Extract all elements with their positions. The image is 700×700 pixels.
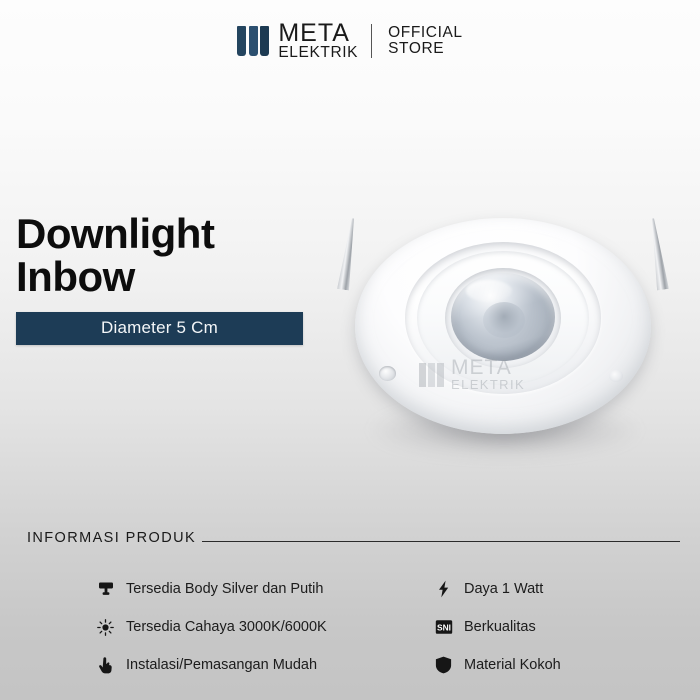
brand-logo: META ELEKTRIK OFFICIAL STORE	[237, 22, 462, 60]
meta-bars-logo-icon	[237, 26, 269, 56]
brand-name: META ELEKTRIK	[278, 22, 358, 60]
store-header: META ELEKTRIK OFFICIAL STORE	[0, 22, 700, 60]
official-store-label: OFFICIAL STORE	[388, 25, 463, 58]
led-chip	[483, 302, 525, 338]
lightning-bolt-icon	[434, 579, 453, 599]
brand-primary: META	[278, 22, 358, 46]
watermark-primary: META	[451, 358, 525, 379]
lens-highlight	[466, 280, 512, 302]
sni-certificate-icon: SNI	[434, 617, 453, 637]
hand-pointer-icon	[96, 655, 115, 675]
info-section-header: INFORMASI PRODUK	[27, 530, 680, 546]
spring-clip-left	[337, 218, 359, 291]
product-image: META ELEKTRIK	[333, 198, 673, 488]
feature-item: SNI Berkualitas	[434, 617, 561, 637]
product-title-line-2: Inbow	[16, 256, 303, 299]
housing-screw-left	[379, 366, 396, 381]
brand-secondary: ELEKTRIK	[278, 46, 358, 61]
info-section-title: INFORMASI PRODUK	[27, 530, 196, 546]
feature-column-left: Tersedia Body Silver dan Putih Tersedia …	[96, 579, 434, 675]
feature-item: Tersedia Body Silver dan Putih	[96, 579, 434, 599]
watermark-text: META ELEKTRIK	[451, 358, 525, 391]
feature-label: Material Kokoh	[464, 657, 561, 673]
feature-label: Berkualitas	[464, 619, 536, 635]
diameter-badge: Diameter 5 Cm	[16, 312, 303, 345]
downlight-icon	[96, 579, 115, 599]
feature-label: Daya 1 Watt	[464, 581, 543, 597]
svg-text:SNI: SNI	[437, 622, 451, 632]
feature-label: Tersedia Body Silver dan Putih	[126, 581, 323, 597]
housing-screw-right	[609, 370, 623, 382]
product-title-line-1: Downlight	[16, 213, 303, 256]
feature-column-right: Daya 1 Watt SNI Berkualitas Material Kok…	[434, 579, 561, 675]
product-title-block: Downlight Inbow Diameter 5 Cm	[16, 213, 303, 345]
official-line-2: STORE	[388, 41, 463, 57]
spring-clip-right	[647, 218, 669, 291]
shield-icon	[434, 655, 453, 675]
feature-list: Tersedia Body Silver dan Putih Tersedia …	[96, 579, 656, 675]
feature-item: Tersedia Cahaya 3000K/6000K	[96, 617, 434, 637]
image-watermark: META ELEKTRIK	[419, 358, 525, 391]
feature-label: Instalasi/Pemasangan Mudah	[126, 657, 317, 673]
official-line-1: OFFICIAL	[388, 25, 463, 41]
feature-item: Daya 1 Watt	[434, 579, 561, 599]
logo-divider	[371, 24, 372, 58]
watermark-bars-icon	[419, 363, 444, 387]
feature-item: Instalasi/Pemasangan Mudah	[96, 655, 434, 675]
brightness-sun-icon	[96, 617, 115, 637]
feature-item: Material Kokoh	[434, 655, 561, 675]
feature-label: Tersedia Cahaya 3000K/6000K	[126, 619, 327, 635]
info-section-rule	[202, 541, 680, 542]
watermark-secondary: ELEKTRIK	[451, 379, 525, 392]
